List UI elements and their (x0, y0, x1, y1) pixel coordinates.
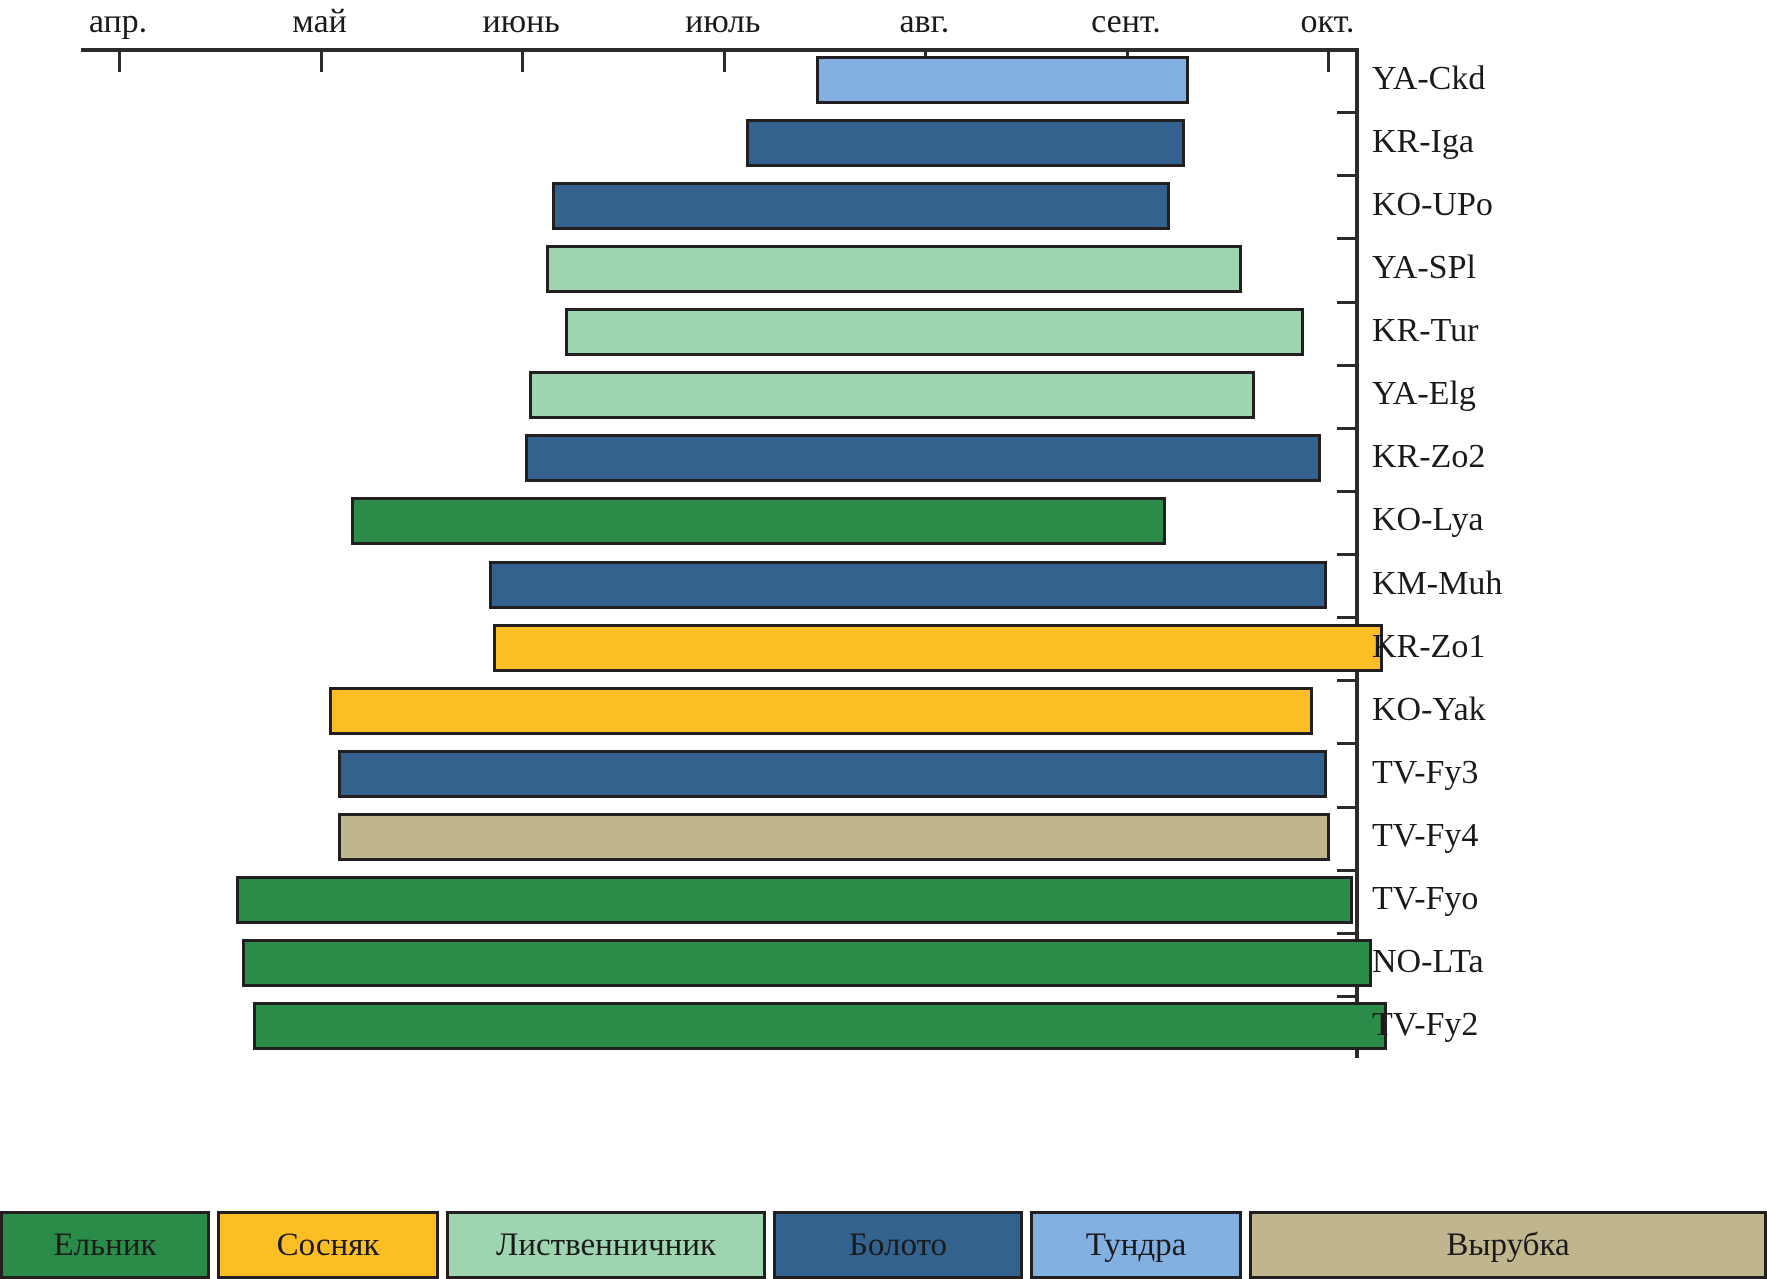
y-axis-tick-12 (1337, 806, 1359, 809)
legend-item-0[interactable]: Ельник (0, 1211, 210, 1279)
y-axis-label-ya-ckd: YA-Ckd (1372, 61, 1485, 97)
bar-ko-lya[interactable] (351, 497, 1166, 545)
x-axis-tick-2 (521, 52, 524, 72)
y-axis-label-kr-iga: KR-Iga (1372, 124, 1474, 160)
bar-kr-tur[interactable] (565, 308, 1304, 356)
y-axis-tick-7 (1337, 490, 1359, 493)
legend-label: Сосняк (277, 1228, 380, 1262)
plot-area: YA-CkdKR-IgaKO-UPoYA-SPlKR-TurYA-ElgKR-Z… (0, 0, 1767, 1279)
x-axis-tick-0 (118, 52, 121, 72)
bar-ya-spl[interactable] (546, 245, 1242, 293)
y-axis-label-tv-fyo: TV-Fyo (1372, 881, 1478, 917)
bar-ya-elg[interactable] (529, 371, 1255, 419)
y-axis-tick-1 (1337, 111, 1359, 114)
legend-item-4[interactable]: Тундра (1030, 1211, 1242, 1279)
y-axis-label-ya-elg: YA-Elg (1372, 376, 1476, 412)
bar-kr-iga[interactable] (746, 119, 1186, 167)
bar-tv-fy3[interactable] (338, 750, 1327, 798)
y-axis-label-ko-lya: KO-Lya (1372, 502, 1483, 538)
legend-item-2[interactable]: Лиственничник (446, 1211, 766, 1279)
bar-ko-yak[interactable] (329, 687, 1312, 735)
legend-label: Ельник (53, 1228, 156, 1262)
legend-item-5[interactable]: Вырубка (1249, 1211, 1767, 1279)
y-axis-tick-15 (1337, 995, 1359, 998)
legend-item-3[interactable]: Болото (773, 1211, 1023, 1279)
y-axis-label-ko-upo: KO-UPo (1372, 187, 1493, 223)
y-axis-label-kr-tur: KR-Tur (1372, 313, 1478, 349)
y-axis-label-ya-spl: YA-SPl (1372, 250, 1476, 286)
y-axis-tick-3 (1337, 237, 1359, 240)
y-axis-tick-0 (1337, 48, 1359, 51)
y-axis-tick-11 (1337, 742, 1359, 745)
legend-label: Вырубка (1446, 1228, 1569, 1262)
y-axis-label-tv-fy4: TV-Fy4 (1372, 818, 1478, 854)
y-axis-tick-10 (1337, 679, 1359, 682)
bar-ya-ckd[interactable] (816, 56, 1190, 104)
chart-root: апр.майиюньиюльавг.сент.окт. YA-CkdKR-Ig… (0, 0, 1767, 1279)
y-axis-tick-2 (1337, 174, 1359, 177)
legend-item-1[interactable]: Сосняк (217, 1211, 439, 1279)
y-axis-label-km-muh: KM-Muh (1372, 566, 1502, 602)
x-axis-line (81, 48, 1359, 52)
legend-label: Тундра (1086, 1228, 1187, 1262)
bar-km-muh[interactable] (489, 561, 1328, 609)
y-axis-label-kr-zo1: KR-Zo1 (1372, 629, 1485, 665)
y-axis-tick-9 (1337, 616, 1359, 619)
bar-kr-zo2[interactable] (525, 434, 1321, 482)
chart-legend: ЕльникСоснякЛиственничникБолотоТундраВыр… (0, 1211, 1767, 1279)
bar-no-lta[interactable] (242, 939, 1372, 987)
y-axis-tick-8 (1337, 553, 1359, 556)
bar-ko-upo[interactable] (552, 182, 1170, 230)
x-axis-tick-3 (723, 52, 726, 72)
y-axis-tick-6 (1337, 427, 1359, 430)
y-axis-label-tv-fy2: TV-Fy2 (1372, 1007, 1478, 1043)
x-axis-tick-1 (320, 52, 323, 72)
y-axis-tick-4 (1337, 301, 1359, 304)
legend-label: Болото (849, 1228, 947, 1262)
bar-kr-zo1[interactable] (493, 624, 1383, 672)
y-axis-tick-14 (1337, 932, 1359, 935)
y-axis-label-kr-zo2: KR-Zo2 (1372, 439, 1485, 475)
legend-label: Лиственничник (496, 1228, 716, 1262)
y-axis-tick-5 (1337, 364, 1359, 367)
bar-tv-fyo[interactable] (236, 876, 1353, 924)
x-axis-tick-6 (1327, 52, 1330, 72)
y-axis-label-no-lta: NO-LTa (1372, 944, 1484, 980)
y-axis-label-ko-yak: KO-Yak (1372, 692, 1486, 728)
y-axis-label-tv-fy3: TV-Fy3 (1372, 755, 1478, 791)
bar-tv-fy2[interactable] (253, 1002, 1387, 1050)
y-axis-tick-13 (1337, 869, 1359, 872)
bar-tv-fy4[interactable] (338, 813, 1330, 861)
